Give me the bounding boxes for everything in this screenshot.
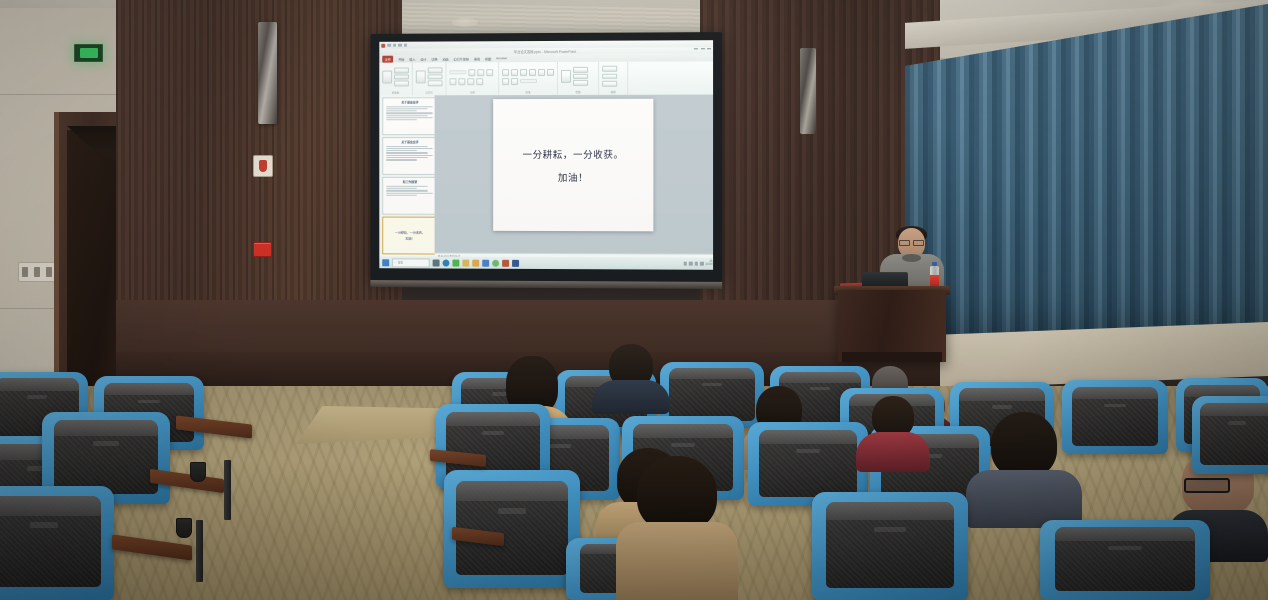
replace-icon[interactable] bbox=[602, 73, 617, 79]
slide-thumbnail[interactable]: 3 和工作展望 bbox=[382, 177, 437, 215]
wechat-icon[interactable] bbox=[452, 259, 459, 266]
projection-screen-frame: 毕业论文答辩.pptx - Microsoft PowerPoint 文件 开始… bbox=[370, 32, 722, 282]
auditorium-seat[interactable] bbox=[1040, 520, 1210, 600]
folder-icon[interactable] bbox=[472, 259, 479, 266]
audience-member bbox=[966, 412, 1082, 522]
redo-icon[interactable] bbox=[398, 43, 401, 46]
align-center-icon[interactable] bbox=[547, 68, 554, 75]
ribbon-group-drawing[interactable]: 绘图 bbox=[558, 62, 599, 95]
tab-slideshow[interactable]: 幻灯片放映 bbox=[454, 56, 469, 61]
exit-sign bbox=[74, 44, 103, 62]
curtain-shading bbox=[905, 4, 1268, 356]
search-icon: ○ bbox=[395, 260, 397, 264]
ribbon-group-label: 绘图 bbox=[561, 90, 595, 94]
select-icon[interactable] bbox=[602, 81, 617, 87]
clock-date[interactable]: 2019/1/8 bbox=[706, 263, 714, 266]
seat-leg bbox=[224, 460, 231, 520]
auditorium-seat[interactable] bbox=[0, 486, 114, 600]
align-left-icon[interactable] bbox=[538, 69, 545, 76]
chevron-up-icon[interactable] bbox=[683, 262, 687, 266]
tab-review[interactable]: 审阅 bbox=[474, 56, 480, 61]
search-input[interactable]: ○ 搜索 bbox=[392, 258, 429, 267]
numbering-icon[interactable] bbox=[511, 69, 518, 76]
store-icon[interactable] bbox=[482, 259, 489, 266]
powerpoint-window: 毕业论文答辩.pptx - Microsoft PowerPoint 文件 开始… bbox=[379, 40, 713, 270]
seat-leg bbox=[196, 520, 203, 582]
shapes-gallery-icon[interactable] bbox=[561, 70, 571, 83]
presenter-collar bbox=[902, 254, 921, 262]
paste-icon[interactable] bbox=[382, 71, 392, 84]
tab-acrobat[interactable]: Acrobat bbox=[496, 56, 507, 60]
seat-cup-holder[interactable] bbox=[190, 462, 206, 482]
layout-icon[interactable] bbox=[428, 68, 443, 74]
glasses-icon bbox=[1184, 478, 1230, 493]
ribbon-group-label: 编辑 bbox=[602, 90, 624, 94]
ribbon-group-clipboard[interactable]: 剪贴板 bbox=[379, 63, 413, 96]
tab-view[interactable]: 视图 bbox=[485, 56, 491, 61]
tab-transitions[interactable]: 切换 bbox=[431, 56, 437, 61]
seat-cup-holder[interactable] bbox=[176, 518, 192, 538]
slide-thumbnail-subtitle: 加油！ bbox=[405, 237, 414, 241]
chrome-icon[interactable] bbox=[492, 259, 499, 266]
start-button-icon[interactable] bbox=[382, 259, 389, 266]
slide-thumbnail-panel[interactable]: 1 关于基金会评 2 关于基金会评 3 和工作展望 bbox=[379, 95, 440, 254]
volume-icon[interactable] bbox=[694, 262, 698, 266]
system-tray[interactable]: 15:42 2019/1/8 bbox=[683, 261, 713, 267]
windows-taskbar[interactable]: ○ 搜索 bbox=[379, 256, 713, 270]
screen-bottom-casing bbox=[370, 280, 722, 289]
ribbon-group-slides[interactable]: 幻灯片 bbox=[413, 62, 447, 95]
audience-member bbox=[592, 344, 670, 406]
ribbon[interactable]: 剪贴板 幻灯片 bbox=[379, 61, 713, 96]
ribbon-group-label: 剪贴板 bbox=[382, 90, 409, 94]
slide-line-2: 加油！ bbox=[558, 170, 588, 184]
ribbon-group-label: 幻灯片 bbox=[416, 90, 443, 94]
tab-design[interactable]: 设计 bbox=[420, 56, 426, 61]
slide-line-1: 一分耕耘，一分收获。 bbox=[523, 146, 624, 160]
podium-base bbox=[842, 352, 942, 362]
slide-editing-area[interactable]: 一分耕耘，一分收获。 加油！ bbox=[435, 95, 713, 256]
ribbon-group-label: 字体 bbox=[449, 90, 495, 94]
strikethrough-icon[interactable] bbox=[467, 78, 474, 85]
current-slide[interactable]: 一分耕耘，一分收获。 加油！ bbox=[493, 99, 653, 232]
search-placeholder: 搜索 bbox=[398, 260, 404, 264]
ribbon-group-editing[interactable]: 编辑 bbox=[599, 62, 628, 95]
window-controls[interactable] bbox=[694, 48, 711, 49]
new-slide-icon[interactable] bbox=[416, 70, 426, 83]
tab-home[interactable]: 开始 bbox=[398, 56, 404, 61]
file-explorer-icon[interactable] bbox=[462, 259, 469, 266]
powerpoint-icon bbox=[381, 43, 385, 47]
slide-thumbnail[interactable]: 1 关于基金会评 bbox=[382, 97, 437, 135]
auditorium-scene: 毕业论文答辩.pptx - Microsoft PowerPoint 文件 开始… bbox=[0, 0, 1268, 600]
tab-file[interactable]: 文件 bbox=[382, 55, 393, 62]
recessed-light bbox=[452, 18, 478, 27]
slide-thumbnail-title: 一分耕耘，一分收获。 bbox=[395, 231, 425, 235]
input-method-icon[interactable] bbox=[700, 262, 704, 266]
glasses-icon bbox=[899, 240, 924, 244]
underline-icon[interactable] bbox=[449, 78, 456, 85]
justify-icon[interactable] bbox=[511, 78, 518, 85]
task-view-icon[interactable] bbox=[432, 259, 439, 266]
fire-alarm-pull-station[interactable] bbox=[253, 155, 273, 177]
slide-thumbnail-selected[interactable]: 4 一分耕耘，一分收获。 加油！ bbox=[382, 217, 437, 255]
tab-insert[interactable]: 插入 bbox=[409, 56, 415, 61]
bullets-icon[interactable] bbox=[502, 69, 509, 76]
auditorium-seat[interactable] bbox=[1192, 396, 1268, 474]
close-icon[interactable] bbox=[707, 48, 711, 49]
audience-member bbox=[856, 396, 930, 470]
undo-icon[interactable] bbox=[393, 43, 396, 46]
font-size-selector[interactable] bbox=[468, 69, 475, 76]
slide-thumbnail-title: 关于基金会评 bbox=[386, 100, 434, 104]
tab-animations[interactable]: 动画 bbox=[442, 56, 448, 61]
shape-outline-icon[interactable] bbox=[573, 74, 588, 80]
manual-call-point[interactable] bbox=[253, 242, 272, 257]
reset-icon[interactable] bbox=[428, 74, 443, 80]
shape-effects-icon[interactable] bbox=[573, 80, 588, 86]
bold-icon[interactable] bbox=[477, 69, 484, 76]
restore-icon[interactable] bbox=[700, 48, 704, 49]
audience-member bbox=[616, 456, 738, 600]
powerpoint-icon[interactable] bbox=[502, 259, 509, 266]
save-icon[interactable] bbox=[387, 44, 390, 47]
ribbon-group-label: 段落 bbox=[502, 90, 554, 94]
auditorium-seat[interactable] bbox=[812, 492, 968, 600]
word-icon[interactable] bbox=[512, 259, 519, 266]
wall-light-switch[interactable] bbox=[18, 262, 56, 282]
decrease-indent-icon[interactable] bbox=[520, 69, 527, 76]
edge-icon[interactable] bbox=[442, 259, 449, 266]
ribbon-group-font[interactable]: 字体 bbox=[446, 62, 499, 95]
font-family-selector[interactable] bbox=[449, 70, 466, 75]
wall-speaker bbox=[258, 22, 277, 124]
shape-fill-icon[interactable] bbox=[573, 67, 588, 73]
slide-thumbnail[interactable]: 2 关于基金会评 bbox=[382, 137, 437, 174]
slide-thumbnail-title: 和工作展望 bbox=[386, 180, 434, 184]
projection-screen: 毕业论文答辩.pptx - Microsoft PowerPoint 文件 开始… bbox=[379, 40, 713, 270]
ribbon-group-paragraph[interactable]: 段落 bbox=[499, 62, 558, 95]
network-icon[interactable] bbox=[689, 262, 693, 266]
find-icon[interactable] bbox=[602, 66, 617, 72]
slide-thumbnail-title: 关于基金会评 bbox=[386, 140, 434, 144]
customize-qat-icon[interactable] bbox=[403, 43, 406, 46]
italic-icon[interactable] bbox=[486, 69, 493, 76]
convert-smartart-icon[interactable] bbox=[520, 79, 537, 84]
cut-icon[interactable] bbox=[394, 68, 409, 74]
font-color-icon[interactable] bbox=[476, 78, 483, 85]
shadow-icon[interactable] bbox=[458, 78, 465, 85]
section-icon[interactable] bbox=[428, 81, 443, 87]
align-right-icon[interactable] bbox=[502, 78, 509, 85]
copy-icon[interactable] bbox=[394, 74, 409, 80]
increase-indent-icon[interactable] bbox=[529, 69, 536, 76]
minimize-icon[interactable] bbox=[694, 48, 698, 49]
wall-speaker bbox=[800, 48, 816, 134]
format-painter-icon[interactable] bbox=[394, 81, 409, 87]
